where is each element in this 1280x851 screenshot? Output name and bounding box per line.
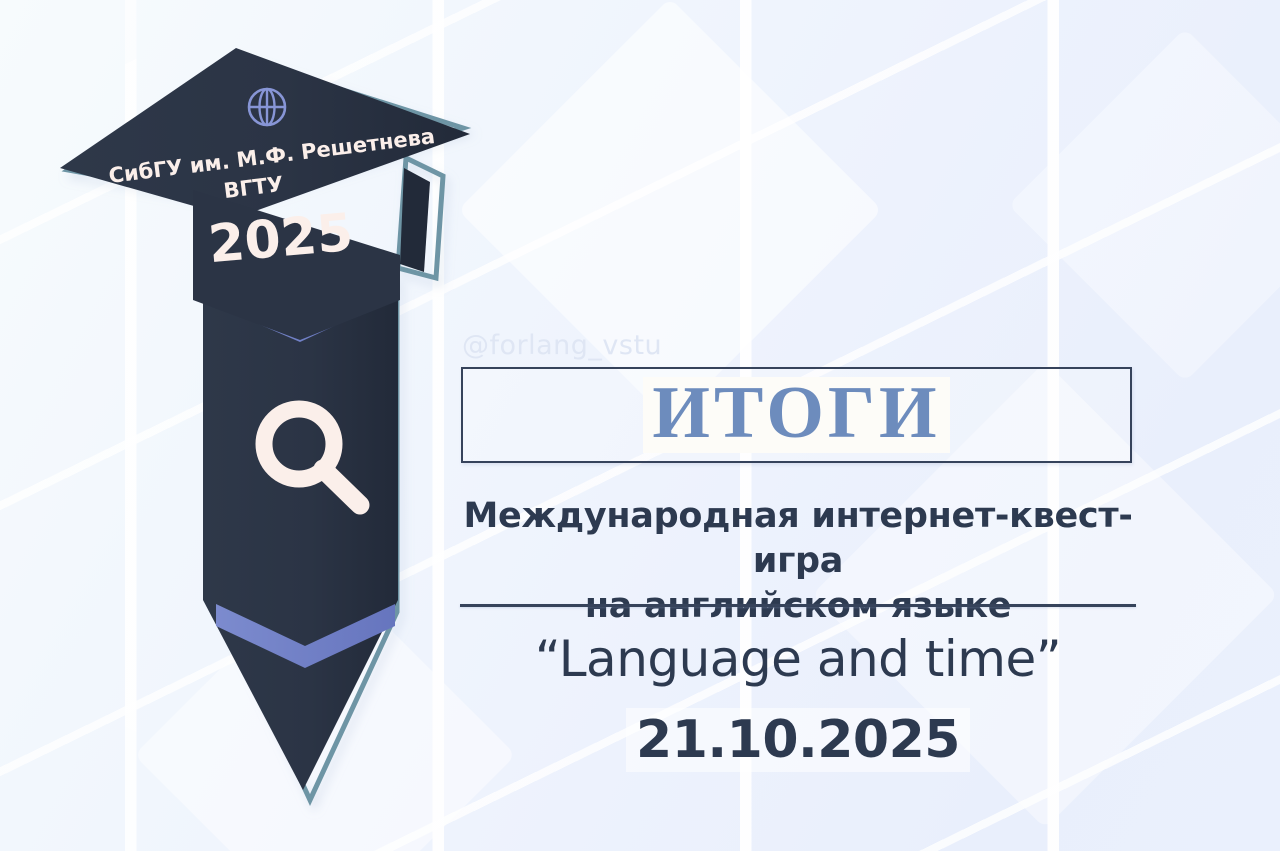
cap-year: 2025 — [206, 203, 355, 275]
section-divider — [460, 604, 1136, 607]
page-title: ИТОГИ — [643, 377, 949, 454]
event-date-wrapper: 21.10.2025 — [458, 710, 1138, 770]
globe-icon — [249, 89, 285, 125]
subtitle-block: Международная интернет-квест-игра на анг… — [458, 494, 1138, 628]
poster-canvas: СибГУ им. М.Ф. Решетнева ВГТУ 2025 @forl… — [0, 0, 1280, 851]
subtitle-line-1: Международная интернет-квест-игра — [458, 494, 1138, 584]
cap-tassel — [400, 168, 430, 272]
quest-name: “Language and time” — [458, 630, 1138, 688]
graduation-cap-bookmark-emblem: СибГУ им. М.Ф. Решетнева ВГТУ 2025 — [0, 0, 520, 851]
watermark-handle: @forlang_vstu — [462, 330, 662, 361]
content-column: @forlang_vstu ИТОГИ Международная интерн… — [458, 0, 1138, 851]
event-date: 21.10.2025 — [626, 708, 970, 772]
title-box: ИТОГИ — [461, 367, 1132, 463]
